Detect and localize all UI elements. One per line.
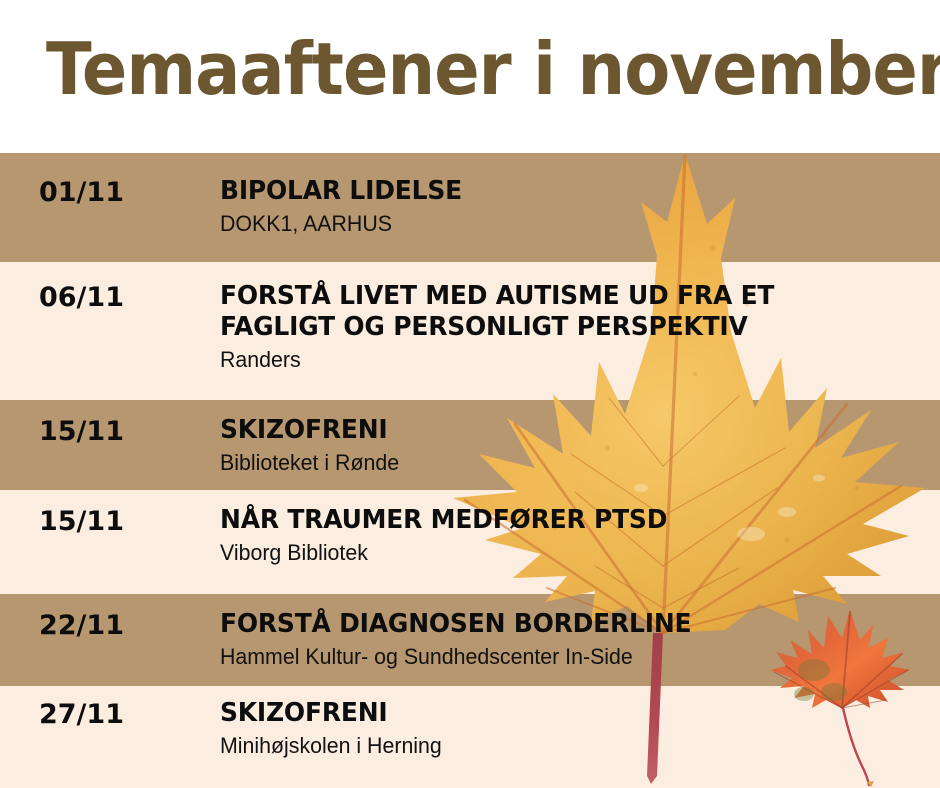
event-title: NÅR TRAUMER MEDFØRER PTSD (220, 505, 911, 536)
event-date: 27/11 (0, 698, 155, 731)
event-body: SKIZOFRENIMinihøjskolen i Herning (155, 698, 940, 760)
event-title: FORSTÅ LIVET MED AUTISME UD FRA ET FAGLI… (220, 281, 911, 343)
event-title: SKIZOFRENI (220, 698, 911, 729)
event-title: SKIZOFRENI (220, 415, 911, 446)
event-venue: Hammel Kultur- og Sundhedscenter In-Side (220, 643, 918, 671)
event-body: FORSTÅ LIVET MED AUTISME UD FRA ET FAGLI… (155, 281, 940, 374)
event-date: 06/11 (0, 281, 155, 314)
event-row[interactable]: 06/11FORSTÅ LIVET MED AUTISME UD FRA ET … (0, 281, 940, 374)
event-date: 15/11 (0, 415, 155, 448)
event-date: 15/11 (0, 505, 155, 538)
event-date: 01/11 (0, 176, 155, 209)
event-venue: Biblioteket i Rønde (220, 449, 918, 477)
event-body: FORSTÅ DIAGNOSEN BORDERLINEHammel Kultur… (155, 609, 940, 671)
event-venue: Randers (220, 346, 918, 374)
event-body: BIPOLAR LIDELSEDOKK1, AARHUS (155, 176, 940, 238)
event-date: 22/11 (0, 609, 155, 642)
event-venue: DOKK1, AARHUS (220, 210, 918, 238)
event-body: SKIZOFRENIBiblioteket i Rønde (155, 415, 940, 477)
event-row[interactable]: 01/11BIPOLAR LIDELSEDOKK1, AARHUS (0, 176, 940, 238)
event-row[interactable]: 15/11NÅR TRAUMER MEDFØRER PTSDViborg Bib… (0, 505, 940, 567)
poster-canvas: Temaaftener i november 01/11BIPOLAR LIDE… (0, 0, 940, 788)
event-title: BIPOLAR LIDELSE (220, 176, 911, 207)
event-body: NÅR TRAUMER MEDFØRER PTSDViborg Bibliote… (155, 505, 940, 567)
event-venue: Minihøjskolen i Herning (220, 732, 918, 760)
event-row[interactable]: 15/11SKIZOFRENIBiblioteket i Rønde (0, 415, 940, 477)
event-title: FORSTÅ DIAGNOSEN BORDERLINE (220, 609, 911, 640)
title-area: Temaaftener i november (0, 0, 940, 153)
event-venue: Viborg Bibliotek (220, 539, 918, 567)
event-row[interactable]: 27/11SKIZOFRENIMinihøjskolen i Herning (0, 698, 940, 760)
page-title: Temaaftener i november (46, 26, 846, 112)
event-row[interactable]: 22/11FORSTÅ DIAGNOSEN BORDERLINEHammel K… (0, 609, 940, 671)
